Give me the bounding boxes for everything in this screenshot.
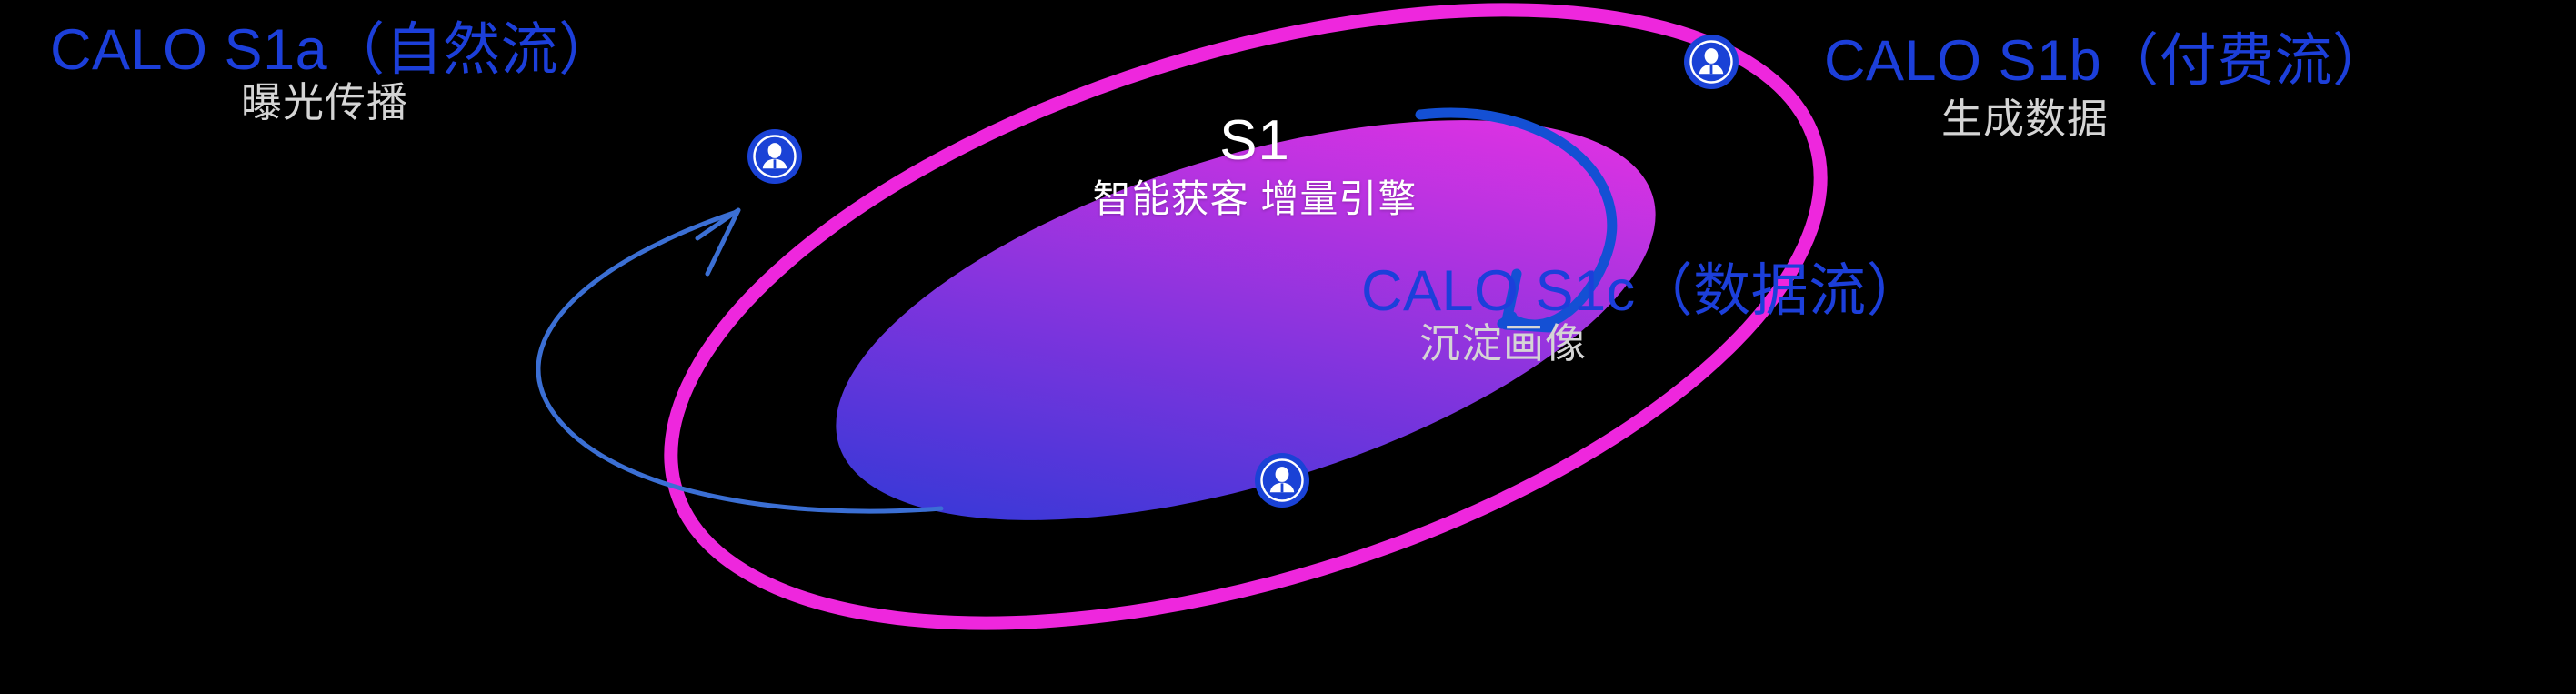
- diagram-canvas: CALO S1a（自然流） 曝光传播 CALO S1b（付费流） 生成数据 CA…: [0, 0, 2576, 694]
- badge-s1c[interactable]: [1255, 453, 1309, 508]
- node-subtitle-s1b: 生成数据: [1941, 98, 2109, 139]
- node-title-s1a: CALO S1a（自然流）: [50, 22, 616, 79]
- node-subtitle-s1c: 沉淀画像: [1419, 323, 1587, 364]
- node-subtitle-s1a: 曝光传播: [241, 82, 408, 123]
- node-title-s1b: CALO S1b（付费流）: [1824, 33, 2391, 90]
- badge-s1a[interactable]: [747, 129, 802, 184]
- badge-s1b[interactable]: [1684, 35, 1739, 89]
- node-title-s1c: CALO S1c（数据流）: [1361, 263, 1924, 320]
